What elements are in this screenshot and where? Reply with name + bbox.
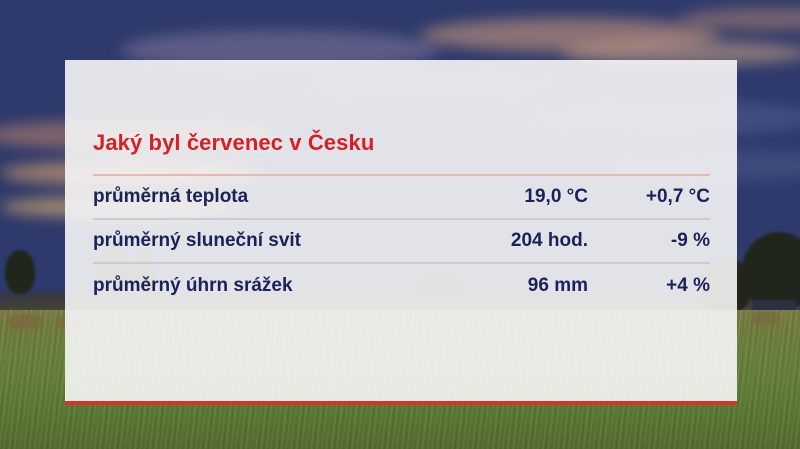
row-delta: +0,7 °C xyxy=(588,186,710,208)
row-label: průměrný úhrn srážek xyxy=(93,275,463,297)
row-delta: +4 % xyxy=(588,275,710,297)
info-panel: Jaký byl červenec v Česku průměrná teplo… xyxy=(65,60,737,405)
screenshot-stage: Jaký byl červenec v Česku průměrná teplo… xyxy=(0,0,800,449)
tree-shape xyxy=(5,250,35,294)
row-value: 204 hod. xyxy=(463,230,588,252)
row-value: 19,0 °C xyxy=(463,186,588,208)
table-row: průměrný úhrn srážek 96 mm +4 % xyxy=(93,264,710,308)
row-delta: -9 % xyxy=(588,230,710,252)
table-row: průměrný sluneční svit 204 hod. -9 % xyxy=(93,220,710,264)
row-label: průměrný sluneční svit xyxy=(93,230,463,252)
panel-title: Jaký byl červenec v Česku xyxy=(93,130,710,156)
panel-content: Jaký byl červenec v Česku průměrná teplo… xyxy=(93,60,710,308)
hay-bale-shape xyxy=(752,312,780,325)
row-label: průměrná teplota xyxy=(93,186,463,208)
row-value: 96 mm xyxy=(463,275,588,297)
table-row: průměrná teplota 19,0 °C +0,7 °C xyxy=(93,176,710,220)
hay-bale-shape xyxy=(8,314,42,329)
stats-table: průměrná teplota 19,0 °C +0,7 °C průměrn… xyxy=(93,176,710,308)
